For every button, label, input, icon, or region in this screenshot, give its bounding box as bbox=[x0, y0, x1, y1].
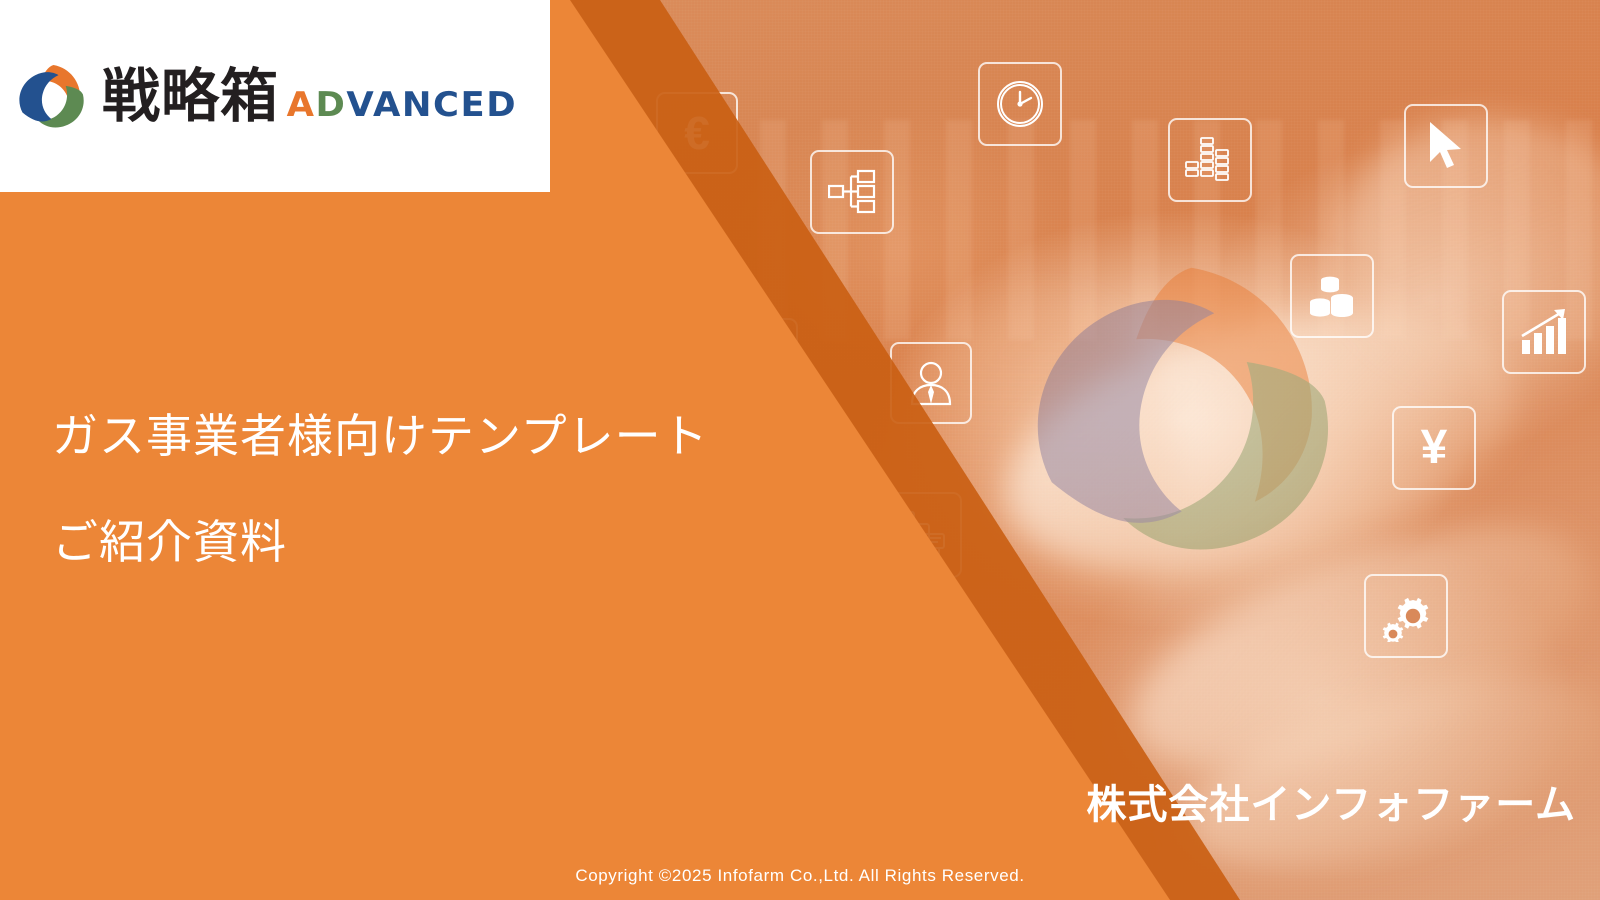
gears-settings-icon bbox=[1364, 574, 1448, 658]
slide-title-line-2: ご紹介資料 bbox=[52, 518, 872, 566]
slide-canvas: € bbox=[0, 0, 1600, 900]
advanced-letters-rest: VANCED bbox=[346, 85, 517, 125]
growth-chart-icon bbox=[1502, 290, 1586, 374]
brand-logo-plate: 戦略箱 ADVANCED bbox=[0, 0, 550, 192]
cursor-pointer-icon bbox=[1404, 104, 1488, 188]
org-chart-icon bbox=[810, 150, 894, 234]
advanced-letter-a: A bbox=[287, 85, 316, 125]
advanced-letter-d: D bbox=[316, 85, 347, 125]
advanced-wordmark: ADVANCED bbox=[287, 88, 518, 122]
brand-wordmark: 戦略箱 ADVANCED bbox=[102, 67, 513, 125]
coins-stack-icon bbox=[1290, 254, 1374, 338]
company-name: 株式会社インフォファーム bbox=[1086, 772, 1576, 830]
product-name-kanji: 戦略箱 bbox=[102, 67, 279, 125]
senryakubako-swoosh-logo-icon bbox=[16, 60, 88, 132]
copyright-notice: Copyright ©2025 Infofarm Co.,Ltd. All Ri… bbox=[0, 866, 1600, 886]
clock-icon bbox=[978, 62, 1062, 146]
analytics-blocks-icon bbox=[1168, 118, 1252, 202]
yen-currency-icon: ¥ bbox=[1392, 406, 1476, 490]
slide-title-line-1: ガス事業者様向けテンプレート bbox=[52, 412, 872, 460]
slide-title-block: ガス事業者様向けテンプレート ご紹介資料 bbox=[52, 412, 872, 567]
